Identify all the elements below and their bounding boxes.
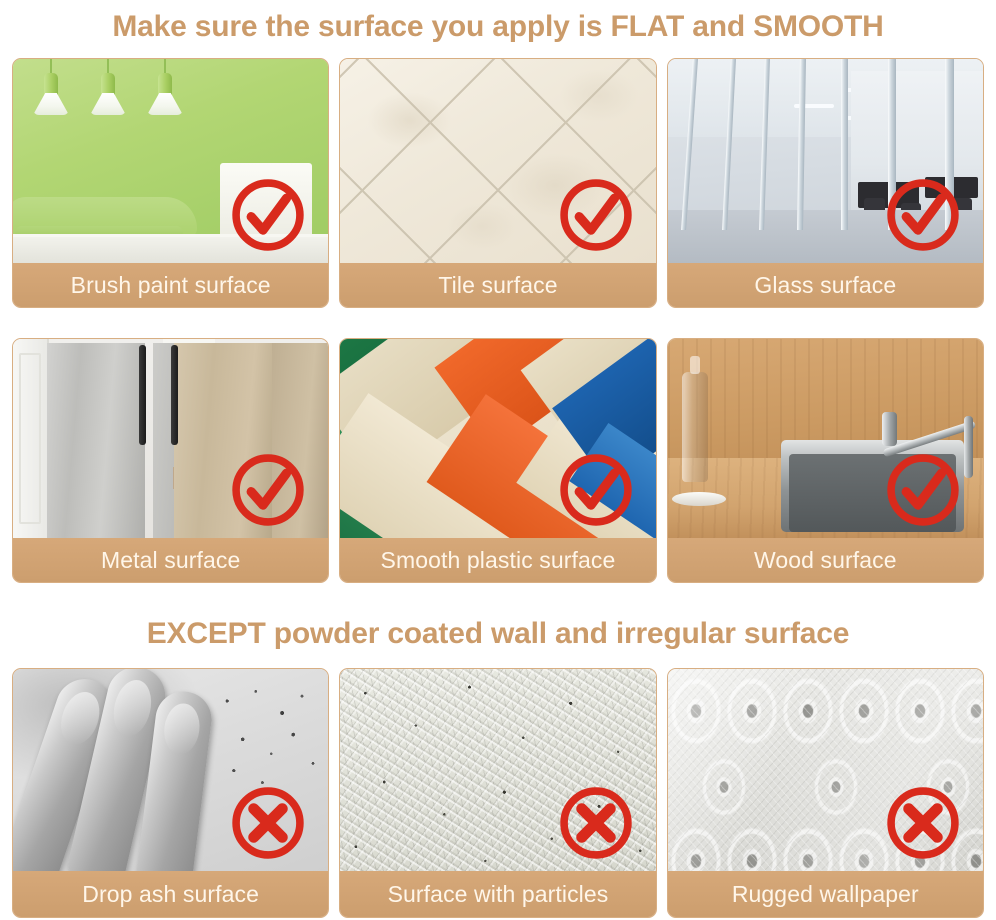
check-mark-icon bbox=[881, 173, 965, 257]
approved-row-2: Metal surface bbox=[12, 338, 984, 583]
glass-bottle bbox=[682, 372, 708, 482]
sofa-shape bbox=[13, 197, 197, 237]
surface-card-glass: Glass surface bbox=[667, 58, 984, 308]
card-caption: Smooth plastic surface bbox=[340, 538, 655, 582]
surface-card-drop-ash: Drop ash surface bbox=[12, 668, 329, 918]
door-handle bbox=[139, 345, 146, 445]
card-caption: Surface with particles bbox=[340, 871, 655, 917]
cross-mark-icon bbox=[881, 781, 965, 865]
surface-card-rugged-wallpaper: Rugged wallpaper bbox=[667, 668, 984, 918]
card-caption: Rugged wallpaper bbox=[668, 871, 983, 917]
surface-card-brush-paint: Brush paint surface bbox=[12, 58, 329, 308]
photo-metal-surface bbox=[13, 339, 328, 538]
plate-stack bbox=[672, 492, 726, 506]
check-mark-icon bbox=[226, 448, 310, 532]
card-caption: Brush paint surface bbox=[13, 263, 328, 307]
surface-card-wood: Wood surface bbox=[667, 338, 984, 583]
door-handle bbox=[171, 345, 178, 445]
photo-rugged-wallpaper bbox=[668, 669, 983, 871]
faucet-head bbox=[882, 412, 897, 446]
ash-dust-particles bbox=[214, 677, 324, 797]
surface-card-smooth-plastic: Smooth plastic surface bbox=[339, 338, 656, 583]
excluded-row-1: Drop ash surface Surface with particles bbox=[12, 668, 984, 918]
photo-drop-ash-surface bbox=[13, 669, 328, 871]
card-caption: Tile surface bbox=[340, 263, 655, 307]
photo-wood-surface bbox=[668, 339, 983, 538]
card-caption: Glass surface bbox=[668, 263, 983, 307]
check-mark-icon bbox=[554, 448, 638, 532]
cross-mark-icon bbox=[554, 781, 638, 865]
photo-tile-surface bbox=[340, 59, 655, 263]
photo-glass-surface bbox=[668, 59, 983, 263]
cross-mark-icon bbox=[226, 781, 310, 865]
surface-card-tile: Tile surface bbox=[339, 58, 656, 308]
card-caption: Metal surface bbox=[13, 538, 328, 582]
photo-surface-with-particles bbox=[340, 669, 655, 871]
check-mark-icon bbox=[881, 448, 965, 532]
surface-card-particles: Surface with particles bbox=[339, 668, 656, 918]
photo-brush-paint-surface bbox=[13, 59, 328, 263]
faucet-body bbox=[964, 416, 973, 478]
surface-card-metal: Metal surface bbox=[12, 338, 329, 583]
photo-smooth-plastic-surface bbox=[340, 339, 655, 538]
cabinet bbox=[13, 339, 49, 538]
infographic-page: Make sure the surface you apply is FLAT … bbox=[0, 0, 996, 920]
approved-surfaces-heading: Make sure the surface you apply is FLAT … bbox=[0, 8, 996, 46]
check-mark-icon bbox=[554, 173, 638, 257]
excluded-surfaces-heading: EXCEPT powder coated wall and irregular … bbox=[0, 615, 996, 653]
card-caption: Wood surface bbox=[668, 538, 983, 582]
check-mark-icon bbox=[226, 173, 310, 257]
approved-row-1: Brush paint surface Tile surface bbox=[12, 58, 984, 308]
fridge-door bbox=[47, 343, 145, 538]
card-caption: Drop ash surface bbox=[13, 871, 328, 917]
